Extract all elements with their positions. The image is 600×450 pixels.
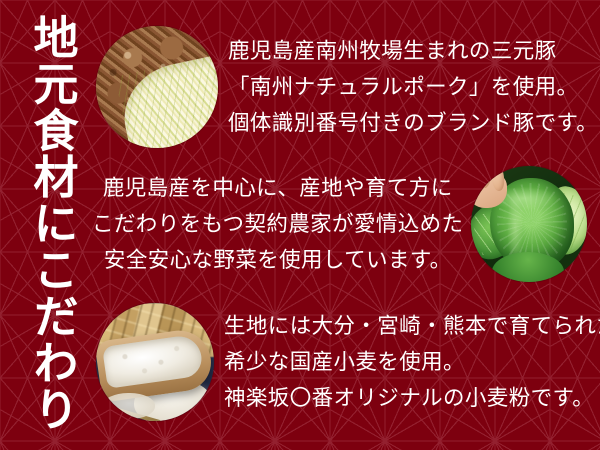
feature-text-line: 「南州ナチュラルポーク」を使用。	[228, 69, 598, 105]
feature-text-line: 個体識別番号付きのブランド豚です。	[228, 105, 598, 141]
feature-text-line: 生地には大分・宮崎・熊本で育てられた	[224, 308, 600, 344]
feature-text-line: 鹿児島産南州牧場生まれの三元豚	[228, 33, 598, 69]
feature-text-wheat: 生地には大分・宮崎・熊本で育てられた 希少な国産小麦を使用。 神楽坂〇番オリジナ…	[224, 308, 600, 416]
feature-text-vegetable: 鹿児島産を中心に、産地や育て方に こだわりをもつ契約農家が愛情込めた 安全安心な…	[92, 170, 463, 278]
flour-on-wooden-scoop-photo	[96, 303, 214, 421]
feature-block-vegetable: 鹿児島産を中心に、産地や育て方に こだわりをもつ契約農家が愛情込めた 安全安心な…	[92, 160, 584, 288]
spilled-flour	[103, 393, 155, 419]
feature-block-pork: 鹿児島産南州牧場生まれの三元豚 「南州ナチュラルポーク」を使用。 個体識別番号付…	[96, 14, 596, 160]
hand-holding-cabbage-photo	[471, 166, 587, 282]
minced-pork-and-shredded-cabbage-photo	[96, 26, 218, 148]
page-title: 地元食材にこだわり	[14, 14, 90, 436]
feature-block-wheat: 生地には大分・宮崎・熊本で育てられた 希少な国産小麦を使用。 神楽坂〇番オリジナ…	[96, 292, 596, 432]
feature-text-line: 神楽坂〇番オリジナルの小麦粉です。	[224, 380, 600, 416]
feature-text-pork: 鹿児島産南州牧場生まれの三元豚 「南州ナチュラルポーク」を使用。 個体識別番号付…	[228, 33, 598, 141]
feature-text-line: 安全安心な野菜を使用しています。	[92, 242, 463, 278]
page-title-text: 地元食材にこだわり	[30, 14, 75, 433]
hand	[471, 166, 508, 210]
promotional-banner: 地元食材にこだわり 鹿児島産南州牧場生まれの三元豚 「南州ナチュラルポーク」を使…	[0, 0, 600, 450]
flour-in-scoop	[102, 333, 204, 388]
feature-text-line: こだわりをもつ契約農家が愛情込めた	[92, 206, 463, 242]
feature-text-line: 鹿児島産を中心に、産地や育て方に	[92, 170, 463, 206]
feature-text-line: 希少な国産小麦を使用。	[224, 344, 600, 380]
